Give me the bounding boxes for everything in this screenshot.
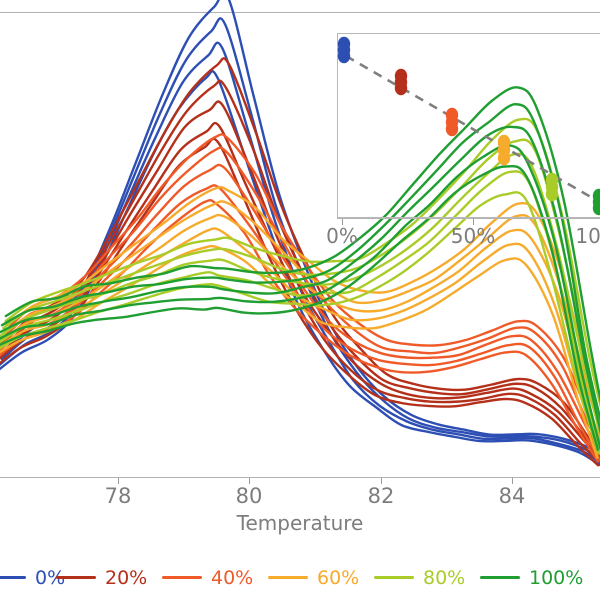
x-tick-label-82: 82 bbox=[368, 484, 395, 508]
melt-curve-60pct-rep2 bbox=[0, 228, 600, 456]
legend-item-60pct[interactable]: 60% bbox=[268, 555, 359, 600]
legend-swatch-60pct bbox=[268, 576, 308, 579]
legend-swatch-20pct bbox=[56, 576, 96, 579]
legend-item-100pct[interactable]: 100% bbox=[480, 555, 583, 600]
melt-curve-60pct-rep4 bbox=[2, 201, 600, 453]
inset-x-tick-label-100pct: 100% bbox=[575, 224, 600, 248]
inset-trend-line bbox=[346, 56, 600, 204]
inset-x-tick-label-0pct: 0% bbox=[326, 224, 358, 248]
legend-label-20pct: 20% bbox=[105, 567, 147, 589]
x-tick-label-84: 84 bbox=[499, 484, 526, 508]
inset-point-80pct-3 bbox=[546, 187, 558, 201]
inset-point-40pct-3 bbox=[446, 122, 458, 136]
inset-x-tick-label-50pct: 50% bbox=[451, 224, 495, 248]
legend-item-20pct[interactable]: 20% bbox=[56, 555, 147, 600]
legend-swatch-40pct bbox=[162, 576, 202, 579]
inset-x-axis-line bbox=[337, 218, 600, 219]
x-axis-line bbox=[0, 477, 600, 478]
legend-item-80pct[interactable]: 80% bbox=[374, 555, 465, 600]
x-axis-title: Temperature bbox=[237, 511, 364, 535]
legend-label-40pct: 40% bbox=[211, 567, 253, 589]
inset-point-60pct-3 bbox=[498, 151, 510, 165]
legend-swatch-80pct bbox=[374, 576, 414, 579]
legend-label-80pct: 80% bbox=[423, 567, 465, 589]
legend-label-60pct: 60% bbox=[317, 567, 359, 589]
legend: 0%20%40%60%80%100% bbox=[0, 555, 600, 600]
inset-point-20pct-3 bbox=[395, 81, 407, 95]
legend-swatch-100pct bbox=[480, 576, 520, 579]
figure-root: 78808284 Temperature 0%50%100% 0%20%40%6… bbox=[0, 0, 600, 600]
legend-item-40pct[interactable]: 40% bbox=[162, 555, 253, 600]
legend-swatch-0pct bbox=[0, 576, 26, 579]
legend-label-100pct: 100% bbox=[529, 567, 583, 589]
inset-point-0pct-3 bbox=[338, 49, 350, 63]
x-tick-label-78: 78 bbox=[105, 484, 132, 508]
x-tick-label-80: 80 bbox=[236, 484, 263, 508]
inset-scatter-plot bbox=[337, 33, 600, 219]
